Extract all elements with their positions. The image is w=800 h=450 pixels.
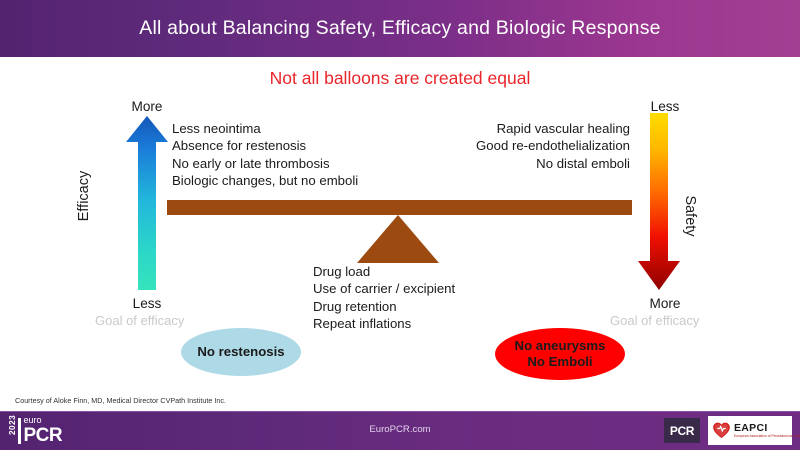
- europcr-logo-pcr: PCR: [24, 426, 63, 445]
- safety-bottom-label: More: [625, 296, 705, 311]
- heart-icon: [712, 421, 731, 440]
- europcr-logo-divider: [18, 418, 21, 444]
- safety-down-arrow-icon: [638, 113, 680, 290]
- no-restenosis-callout: No restenosis: [181, 328, 301, 376]
- europcr-logo: 2023 euro PCR: [8, 415, 62, 446]
- slide-canvas: All about Balancing Safety, Efficacy and…: [0, 0, 800, 450]
- left-benefits-text: Less neointima Absence for restenosis No…: [172, 120, 358, 190]
- goal-of-efficacy-right-watermark: Goal of efficacy: [610, 313, 699, 328]
- page-title: All about Balancing Safety, Efficacy and…: [139, 17, 660, 40]
- seesaw-beam: [167, 200, 632, 215]
- eapci-logo-name: EAPCI: [734, 423, 800, 434]
- slide-subtitle: Not all balloons are created equal: [0, 68, 800, 89]
- eapci-logo-subtitle: European Association of Percutaneous Car…: [734, 435, 800, 438]
- efficacy-bottom-label: Less: [107, 296, 187, 311]
- safety-top-label: Less: [625, 99, 705, 114]
- center-factors-text: Drug load Use of carrier / excipient Dru…: [313, 263, 455, 333]
- goal-of-efficacy-left-watermark: Goal of efficacy: [95, 313, 184, 328]
- eapci-logo: EAPCI European Association of Percutaneo…: [708, 416, 792, 445]
- no-aneurysms-callout: No aneurysms No Emboli: [495, 328, 625, 380]
- pcr-mark-logo: PCR: [664, 418, 700, 443]
- pcr-mark-text: PCR: [670, 424, 694, 438]
- europcr-logo-euro: euro: [24, 416, 63, 425]
- eapci-logo-text: EAPCI European Association of Percutaneo…: [734, 423, 800, 439]
- seesaw-fulcrum-triangle: [357, 215, 439, 263]
- efficacy-axis-label: Efficacy: [76, 171, 92, 222]
- efficacy-up-arrow-icon: [126, 116, 168, 290]
- europcr-logo-year: 2023: [8, 426, 17, 435]
- no-aneurysms-callout-text: No aneurysms No Emboli: [515, 338, 606, 370]
- right-benefits-text: Rapid vascular healing Good re-endotheli…: [430, 120, 630, 172]
- efficacy-top-label: More: [107, 99, 187, 114]
- europcr-logo-wordmark: euro PCR: [24, 416, 63, 445]
- safety-axis-label: Safety: [682, 195, 698, 236]
- slide-title-bar: All about Balancing Safety, Efficacy and…: [0, 0, 800, 57]
- courtesy-credit-line: Courtesy of Aloke Finn, MD, Medical Dire…: [15, 396, 226, 405]
